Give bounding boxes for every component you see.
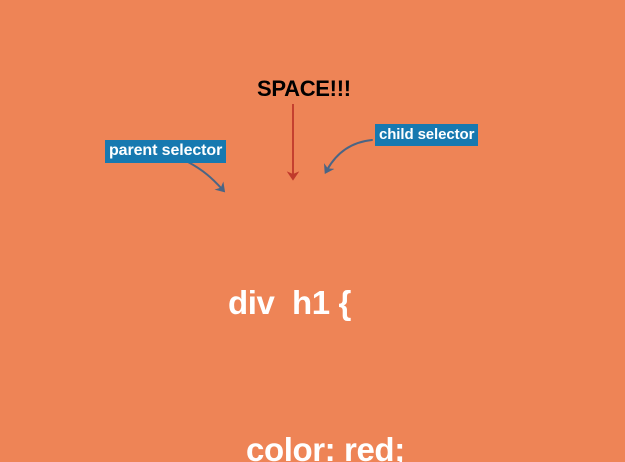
parent-selector-label: parent selector (105, 140, 226, 163)
child-selector-arrow (327, 140, 372, 170)
code-line-declaration: color: red; (228, 425, 405, 462)
code-line-selector: div h1 { (228, 278, 405, 327)
slide-canvas: SPACE!!! parent selector child selector … (0, 0, 625, 462)
css-code-block: div h1 { color: red; } (228, 180, 405, 462)
parent-selector-arrow (188, 162, 222, 189)
space-callout-label: SPACE!!! (257, 78, 351, 100)
child-selector-label: child selector (375, 124, 478, 146)
